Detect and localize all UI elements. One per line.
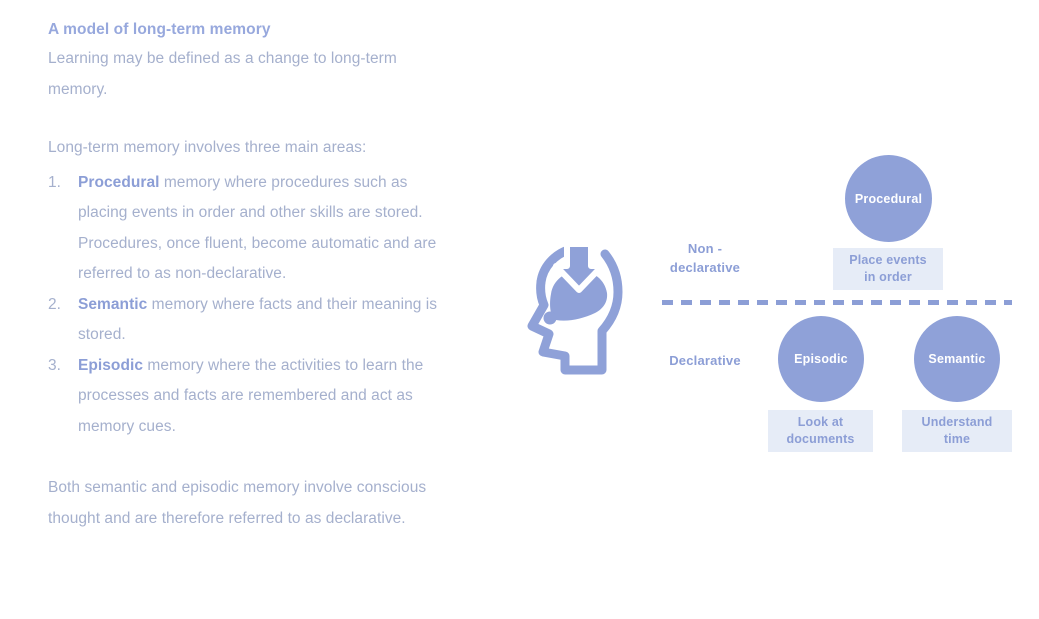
node-box-look-at-documents[interactable]: Look atdocuments <box>768 410 873 452</box>
label-non-declarative: Non -declarative <box>655 240 755 278</box>
dashed-divider <box>662 300 1012 305</box>
closing-paragraph: Both semantic and episodic memory involv… <box>48 473 448 534</box>
node-circle-procedural[interactable]: Procedural <box>845 155 932 242</box>
intro-paragraph-1: Learning may be defined as a change to l… <box>48 44 448 105</box>
memory-areas-list: 1.Procedural memory where procedures suc… <box>48 168 448 443</box>
list-item: 1.Procedural memory where procedures suc… <box>48 168 448 290</box>
long-term-memory-diagram: Non -declarative Declarative Procedural … <box>500 130 1039 490</box>
article-text-column: A model of long-term memory Learning may… <box>48 18 448 534</box>
node-circle-semantic[interactable]: Semantic <box>914 316 1000 402</box>
node-box-understand-time[interactable]: Understandtime <box>902 410 1012 452</box>
list-item-marker: 3. <box>48 351 72 382</box>
list-item: 3.Episodic memory where the activities t… <box>48 351 448 443</box>
label-declarative: Declarative <box>655 352 755 371</box>
node-circle-episodic[interactable]: Episodic <box>778 316 864 402</box>
list-item: 2.Semantic memory where facts and their … <box>48 290 448 351</box>
list-item-term: Episodic <box>78 357 143 374</box>
page-title: A model of long-term memory <box>48 18 448 42</box>
head-with-brain-and-down-arrow-icon <box>510 230 630 385</box>
list-item-marker: 1. <box>48 168 72 199</box>
list-item-term: Semantic <box>78 296 147 313</box>
list-item-term: Procedural <box>78 174 159 191</box>
node-box-place-events-in-order[interactable]: Place eventsin order <box>833 248 943 290</box>
intro-paragraph-2: Long-term memory involves three main are… <box>48 133 448 164</box>
list-item-marker: 2. <box>48 290 72 321</box>
